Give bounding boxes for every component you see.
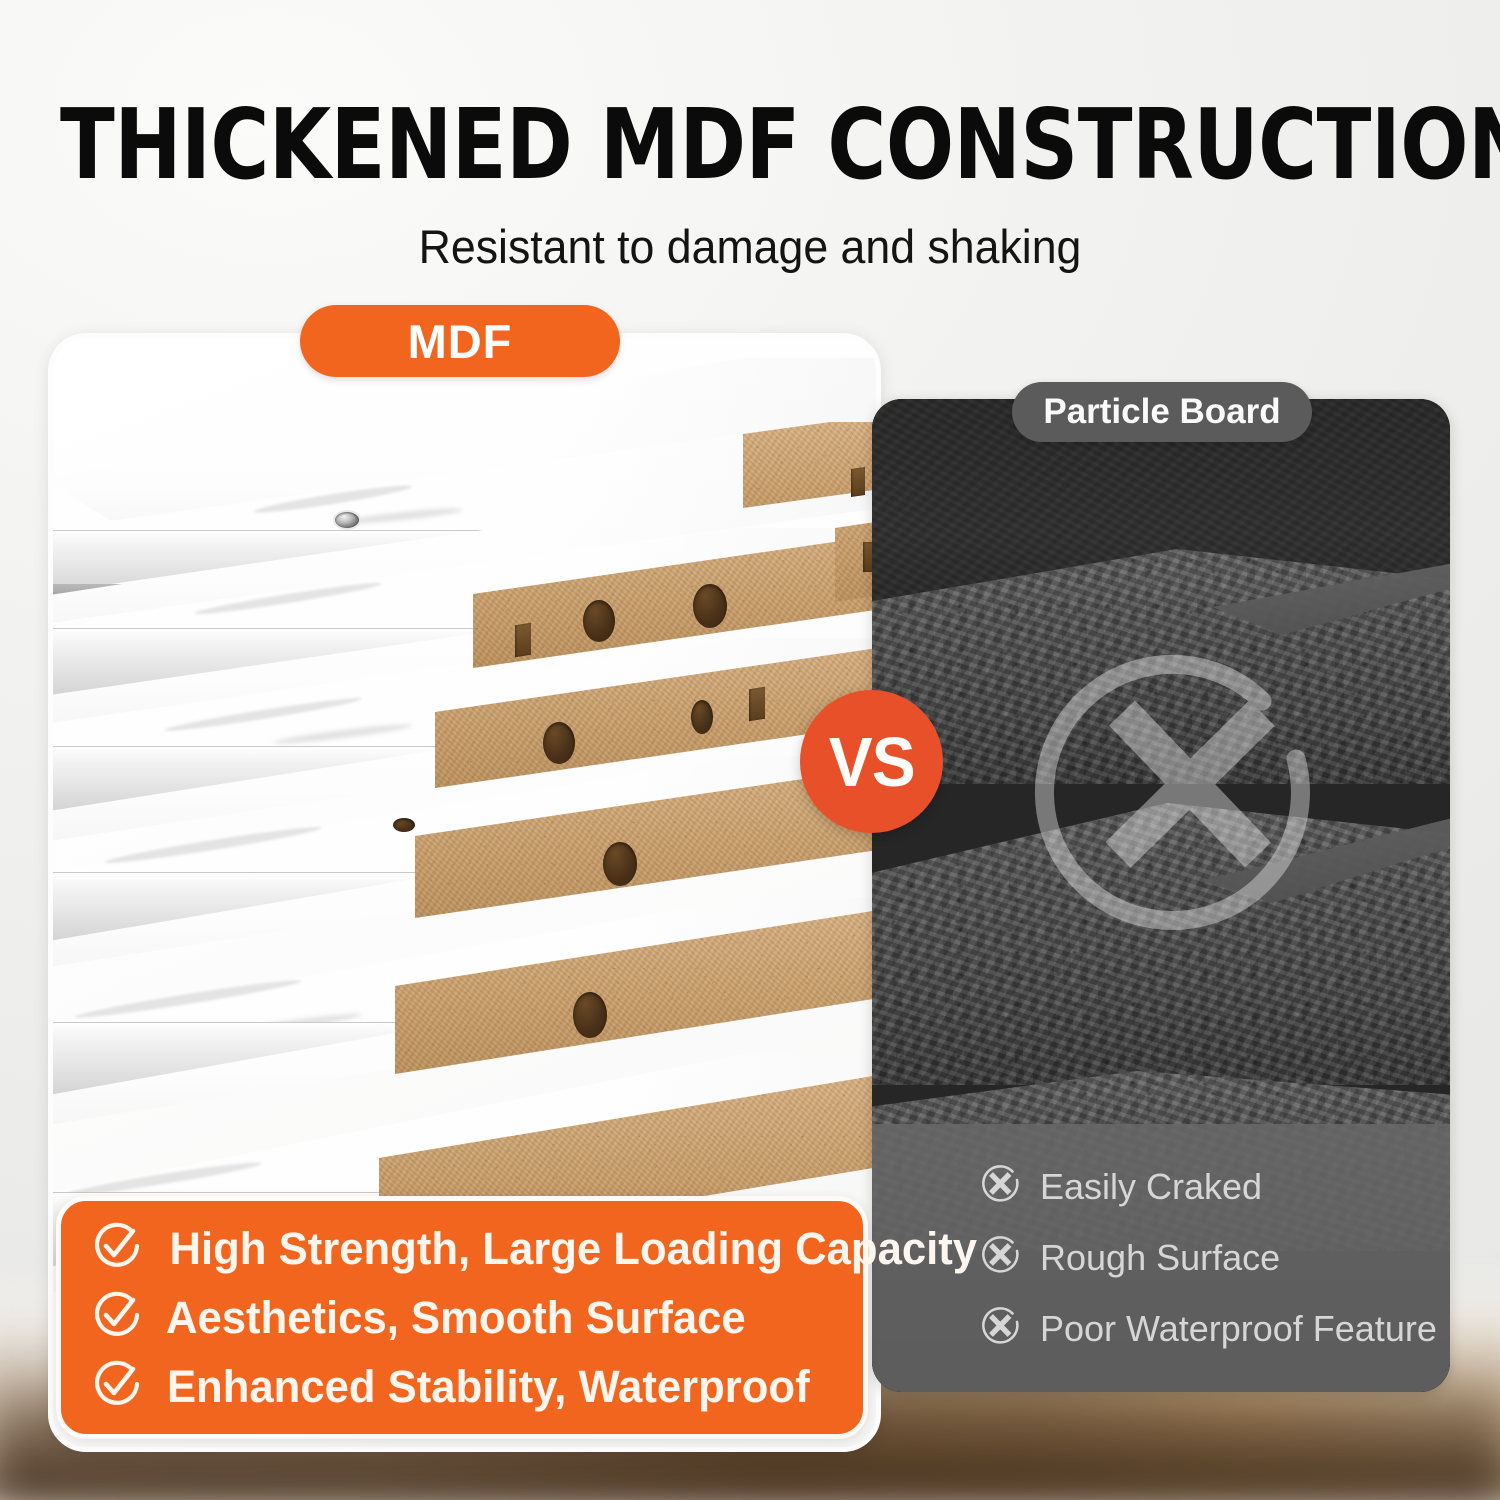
x-circle-icon	[978, 1305, 1022, 1354]
check-circle-icon	[91, 1220, 143, 1277]
mdf-badge: MDF	[300, 305, 620, 377]
header: THICKENED MDF CONSTRUCTION Resistant to …	[0, 96, 1500, 274]
x-circle-icon	[978, 1234, 1022, 1283]
mdf-pros-box: High Strength, Large Loading Capacity Ae…	[56, 1196, 868, 1439]
list-item-label: Rough Surface	[1040, 1237, 1280, 1279]
list-item-label: Aesthetics, Smooth Surface	[166, 1292, 746, 1344]
page-subtitle: Resistant to damage and shaking	[38, 219, 1463, 274]
vs-badge: VS	[800, 690, 943, 833]
list-item: Rough Surface	[978, 1234, 1450, 1283]
list-item: Poor Waterproof Feature	[978, 1305, 1450, 1354]
check-circle-icon	[91, 1289, 143, 1346]
list-item-label: Easily Craked	[1040, 1166, 1262, 1208]
particle-board-badge: Particle Board	[1012, 382, 1312, 442]
mdf-badge-label: MDF	[408, 314, 513, 369]
particle-board-badge-label: Particle Board	[1043, 392, 1280, 432]
x-circle-icon	[1030, 641, 1330, 941]
list-item: Aesthetics, Smooth Surface	[91, 1289, 863, 1346]
infographic-canvas: THICKENED MDF CONSTRUCTION Resistant to …	[0, 0, 1500, 1500]
page-title: THICKENED MDF CONSTRUCTION	[60, 96, 1440, 193]
list-item-label: High Strength, Large Loading Capacity	[169, 1223, 977, 1275]
list-item: High Strength, Large Loading Capacity	[91, 1220, 863, 1277]
list-item: Enhanced Stability, Waterproof	[91, 1358, 863, 1415]
x-circle-icon	[978, 1163, 1022, 1212]
vs-label: VS	[829, 722, 915, 802]
check-circle-icon	[91, 1358, 143, 1415]
list-item: Easily Craked	[978, 1163, 1450, 1212]
list-item-label: Poor Waterproof Feature	[1040, 1308, 1437, 1350]
list-item-label: Enhanced Stability, Waterproof	[167, 1361, 810, 1413]
